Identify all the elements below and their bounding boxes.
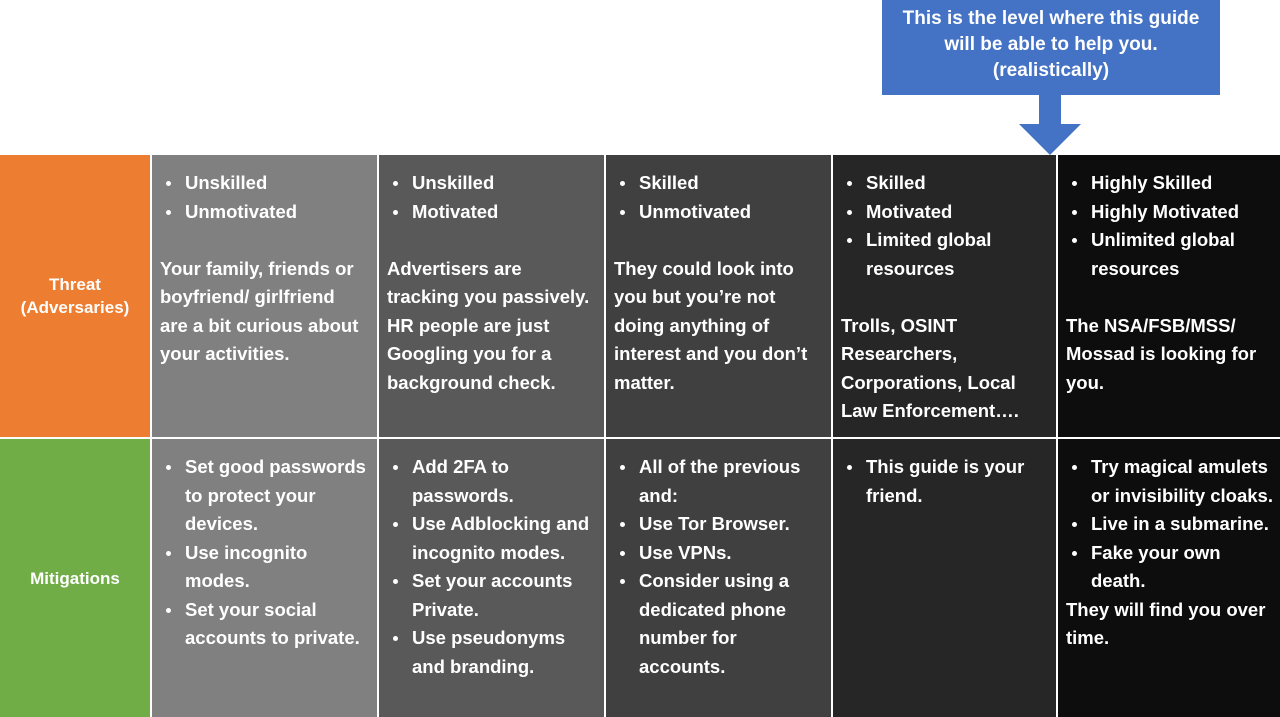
list-item: Motivated bbox=[410, 198, 594, 227]
spacer bbox=[614, 226, 821, 255]
mitigation-tail-level-5: They will find you over time. bbox=[1066, 596, 1280, 653]
callout-box: This is the level where this guide will … bbox=[882, 0, 1220, 95]
list-item: Add 2FA to passwords. bbox=[410, 453, 594, 510]
list-item: Unmotivated bbox=[637, 198, 821, 227]
spacer bbox=[160, 226, 367, 255]
list-item: Unlimited global resources bbox=[1089, 226, 1280, 283]
list-item: Limited global resources bbox=[864, 226, 1046, 283]
threat-cell-level-2: Unskilled Motivated Advertisers are trac… bbox=[379, 155, 604, 437]
list-item: Set good passwords to protect your devic… bbox=[183, 453, 367, 539]
mitigation-cell-level-1: Set good passwords to protect your devic… bbox=[152, 439, 377, 717]
mitigation-cell-level-3: All of the previous and: Use Tor Browser… bbox=[606, 439, 831, 717]
row-header-mitigations-label: Mitigations bbox=[30, 567, 120, 590]
callout-line-1: This is the level where this guide bbox=[890, 6, 1212, 32]
list-item: Set your accounts Private. bbox=[410, 567, 594, 624]
list-item: Highly Skilled bbox=[1089, 169, 1280, 198]
list-item: Consider using a dedicated phone number … bbox=[637, 567, 821, 681]
mitigation-bullets-level-5: Try magical amulets or invisibility cloa… bbox=[1066, 453, 1280, 596]
threat-description-level-5: The NSA/FSB/MSS/ Mossad is looking for y… bbox=[1066, 312, 1280, 398]
row-header-threat: Threat (Adversaries) bbox=[0, 155, 150, 437]
threat-description-level-3: They could look into you but you’re not … bbox=[614, 255, 821, 398]
threat-description-level-2: Advertisers are tracking you passively. … bbox=[387, 255, 594, 398]
row-header-threat-label: Threat (Adversaries) bbox=[4, 273, 146, 319]
threat-description-level-4: Trolls, OSINT Researchers, Corporations,… bbox=[841, 312, 1046, 426]
list-item: Use Tor Browser. bbox=[637, 510, 821, 539]
list-item: Use Adblocking and incognito modes. bbox=[410, 510, 594, 567]
list-item: Skilled bbox=[637, 169, 821, 198]
list-item: Fake your own death. bbox=[1089, 539, 1280, 596]
threat-cell-level-5: Highly Skilled Highly Motivated Unlimite… bbox=[1058, 155, 1280, 437]
threat-bullets-level-2: Unskilled Motivated bbox=[387, 169, 594, 226]
threat-bullets-level-4: Skilled Motivated Limited global resourc… bbox=[841, 169, 1046, 283]
list-item: Skilled bbox=[864, 169, 1046, 198]
spacer bbox=[387, 226, 594, 255]
row-header-mitigations: Mitigations bbox=[0, 439, 150, 717]
list-item: Unskilled bbox=[183, 169, 367, 198]
list-item: Use VPNs. bbox=[637, 539, 821, 568]
mitigation-bullets-level-4: This guide is your friend. bbox=[841, 453, 1046, 510]
mitigation-bullets-level-1: Set good passwords to protect your devic… bbox=[160, 453, 367, 653]
list-item: Use pseudonyms and branding. bbox=[410, 624, 594, 681]
spacer bbox=[841, 283, 1046, 312]
list-item: Set your social accounts to private. bbox=[183, 596, 367, 653]
mitigation-cell-level-2: Add 2FA to passwords. Use Adblocking and… bbox=[379, 439, 604, 717]
threat-cell-level-1: Unskilled Unmotivated Your family, frien… bbox=[152, 155, 377, 437]
list-item: Try magical amulets or invisibility cloa… bbox=[1089, 453, 1280, 510]
list-item: All of the previous and: bbox=[637, 453, 821, 510]
threat-model-matrix: Threat (Adversaries) Unskilled Unmotivat… bbox=[0, 155, 1280, 715]
mitigation-bullets-level-3: All of the previous and: Use Tor Browser… bbox=[614, 453, 821, 681]
callout-annotation: This is the level where this guide will … bbox=[882, 0, 1220, 95]
threat-bullets-level-3: Skilled Unmotivated bbox=[614, 169, 821, 226]
threat-bullets-level-5: Highly Skilled Highly Motivated Unlimite… bbox=[1066, 169, 1280, 283]
list-item: Unskilled bbox=[410, 169, 594, 198]
spacer bbox=[1066, 283, 1280, 312]
callout-line-2: will be able to help you. bbox=[890, 32, 1212, 58]
list-item: Use incognito modes. bbox=[183, 539, 367, 596]
mitigation-cell-level-5: Try magical amulets or invisibility cloa… bbox=[1058, 439, 1280, 717]
threat-bullets-level-1: Unskilled Unmotivated bbox=[160, 169, 367, 226]
threat-cell-level-3: Skilled Unmotivated They could look into… bbox=[606, 155, 831, 437]
list-item: Motivated bbox=[864, 198, 1046, 227]
list-item: Unmotivated bbox=[183, 198, 367, 227]
mitigation-cell-level-4: This guide is your friend. bbox=[833, 439, 1056, 717]
list-item: Live in a submarine. bbox=[1089, 510, 1280, 539]
list-item: This guide is your friend. bbox=[864, 453, 1046, 510]
down-arrow-icon bbox=[1007, 94, 1093, 156]
callout-line-3: (realistically) bbox=[890, 58, 1212, 84]
threat-cell-level-4: Skilled Motivated Limited global resourc… bbox=[833, 155, 1056, 437]
list-item: Highly Motivated bbox=[1089, 198, 1280, 227]
threat-description-level-1: Your family, friends or boyfriend/ girlf… bbox=[160, 255, 367, 369]
mitigation-bullets-level-2: Add 2FA to passwords. Use Adblocking and… bbox=[387, 453, 594, 681]
